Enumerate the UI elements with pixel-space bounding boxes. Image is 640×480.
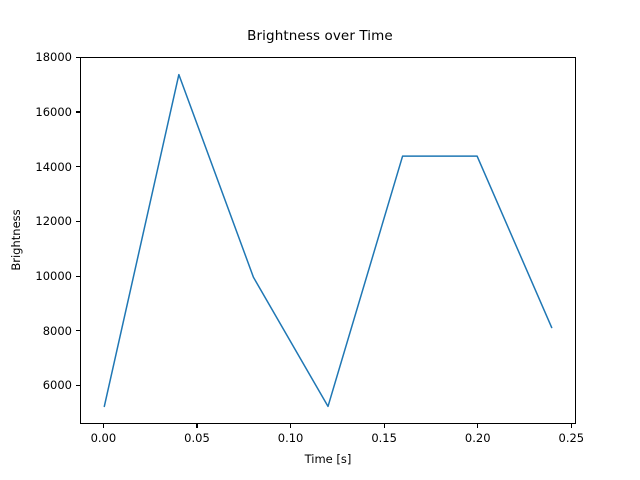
series-polyline-brightness <box>104 75 551 407</box>
x-axis-tick-mark <box>290 424 291 428</box>
x-axis-tick-label: 0.05 <box>162 431 232 445</box>
y-axis-tick-label: 6000 <box>20 378 72 392</box>
y-axis-tick-label: 18000 <box>20 50 72 64</box>
x-axis-tick-mark <box>571 424 572 428</box>
x-axis-tick-mark <box>384 424 385 428</box>
y-axis-tick-label: 12000 <box>20 214 72 228</box>
y-axis-tick-label: 14000 <box>20 160 72 174</box>
x-axis-tick-mark <box>103 424 104 428</box>
data-line-series <box>81 58 575 423</box>
y-axis-label: Brightness <box>9 209 23 270</box>
x-axis-tick-mark <box>196 424 197 428</box>
x-axis-tick-mark <box>477 424 478 428</box>
y-axis-tick-label: 8000 <box>20 324 72 338</box>
x-axis-tick-label: 0.15 <box>349 431 419 445</box>
x-axis-tick-label: 0.20 <box>443 431 513 445</box>
x-axis-label: Time [s] <box>80 452 576 466</box>
x-axis-tick-label: 0.10 <box>256 431 326 445</box>
y-axis-tick-label: 10000 <box>20 269 72 283</box>
plot-area <box>80 57 576 424</box>
matplotlib-figure: Brightness over Time Brightness Time [s]… <box>0 0 640 480</box>
y-axis-tick-label: 16000 <box>20 105 72 119</box>
x-axis-tick-label: 0.00 <box>68 431 138 445</box>
chart-title: Brightness over Time <box>0 28 640 44</box>
x-axis-tick-label: 0.25 <box>536 431 606 445</box>
